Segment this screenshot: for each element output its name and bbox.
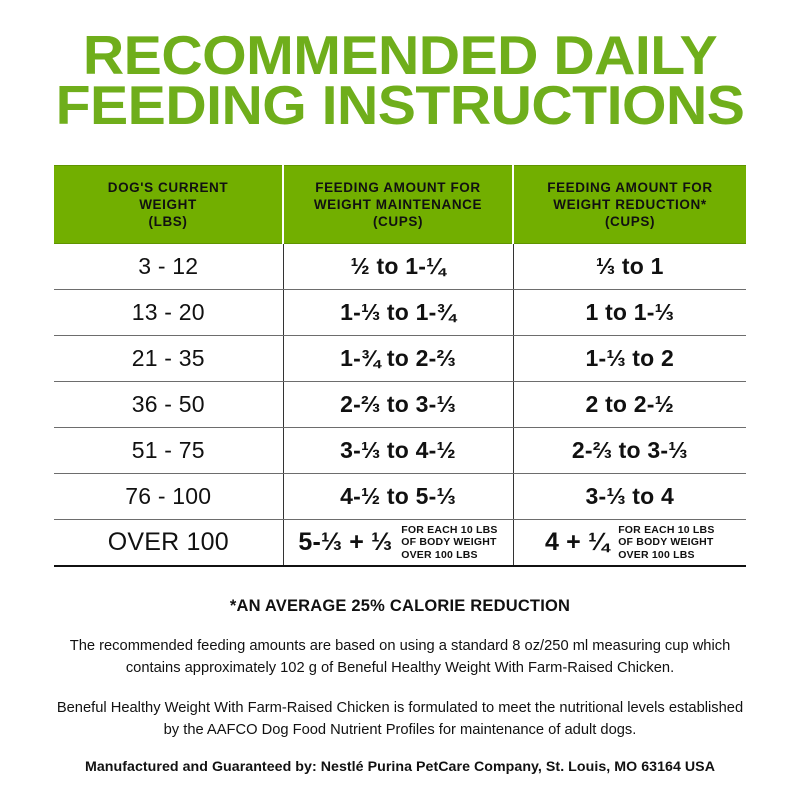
page-title-line-2: FEEDING INSTRUCTIONS	[0, 80, 800, 130]
table-row: 76 - 100 4-½ to 5-⅓ 3-⅓ to 4	[54, 474, 746, 520]
cell-weight: 51 - 75	[54, 428, 283, 474]
column-header-maintenance-line2: WEIGHT MAINTENANCE	[290, 196, 506, 213]
combo-note-line1: FOR EACH 10 LBS	[618, 524, 714, 537]
column-header-reduction: FEEDING AMOUNT FOR WEIGHT REDUCTION* (CU…	[513, 166, 746, 244]
column-header-maintenance: FEEDING AMOUNT FOR WEIGHT MAINTENANCE (C…	[283, 166, 513, 244]
cell-maintenance: 4-½ to 5-⅓	[283, 474, 513, 520]
combo-reduction-note: FOR EACH 10 LBS OF BODY WEIGHT OVER 100 …	[618, 524, 714, 562]
table-row: 3 - 12 ½ to 1-¼ ⅓ to 1	[54, 244, 746, 290]
column-header-maintenance-line3: (CUPS)	[290, 213, 506, 230]
combo-note-line3: OVER 100 LBS	[618, 549, 714, 562]
cell-reduction: 1-⅓ to 2	[513, 336, 746, 382]
cell-weight: 3 - 12	[54, 244, 283, 290]
cell-reduction: 1 to 1-⅓	[513, 290, 746, 336]
table-row: 13 - 20 1-⅓ to 1-¾ 1 to 1-⅓	[54, 290, 746, 336]
cell-maintenance: 1-¾ to 2-⅔	[283, 336, 513, 382]
combo-reduction-value: 4 + ¼	[545, 528, 609, 557]
footnotes: *AN AVERAGE 25% CALORIE REDUCTION The re…	[0, 597, 800, 775]
footnote-calorie-reduction: *AN AVERAGE 25% CALORIE REDUCTION	[40, 597, 760, 616]
cell-reduction: 2 to 2-½	[513, 382, 746, 428]
column-header-reduction-line1: FEEDING AMOUNT FOR	[520, 179, 740, 196]
cell-reduction: ⅓ to 1	[513, 244, 746, 290]
combo-maintenance: 5-⅓ + ⅓ FOR EACH 10 LBS OF BODY WEIGHT O…	[288, 520, 509, 565]
combo-note-line2: OF BODY WEIGHT	[618, 536, 714, 549]
cell-weight-over-100: OVER 100	[54, 520, 283, 566]
cell-reduction-over-100: 4 + ¼ FOR EACH 10 LBS OF BODY WEIGHT OVE…	[513, 520, 746, 566]
combo-maintenance-value: 5-⅓ + ⅓	[298, 528, 392, 557]
cell-weight: 21 - 35	[54, 336, 283, 382]
column-header-maintenance-line1: FEEDING AMOUNT FOR	[290, 179, 506, 196]
table-row: 21 - 35 1-¾ to 2-⅔ 1-⅓ to 2	[54, 336, 746, 382]
page-title: RECOMMENDED DAILY FEEDING INSTRUCTIONS	[0, 0, 800, 130]
combo-reduction: 4 + ¼ FOR EACH 10 LBS OF BODY WEIGHT OVE…	[518, 520, 743, 565]
feeding-instructions-page: RECOMMENDED DAILY FEEDING INSTRUCTIONS D…	[0, 0, 800, 800]
table-body: 3 - 12 ½ to 1-¼ ⅓ to 1 13 - 20 1-⅓ to 1-…	[54, 244, 746, 566]
column-header-weight: DOG'S CURRENT WEIGHT (LBS)	[54, 166, 283, 244]
footnote-manufacturer: Manufactured and Guaranteed by: Nestlé P…	[40, 759, 760, 775]
cell-weight: 13 - 20	[54, 290, 283, 336]
cell-maintenance-over-100: 5-⅓ + ⅓ FOR EACH 10 LBS OF BODY WEIGHT O…	[283, 520, 513, 566]
cell-reduction: 3-⅓ to 4	[513, 474, 746, 520]
feeding-table-container: DOG'S CURRENT WEIGHT (LBS) FEEDING AMOUN…	[54, 165, 746, 567]
column-header-weight-line2: WEIGHT	[60, 196, 276, 213]
cell-maintenance: ½ to 1-¼	[283, 244, 513, 290]
column-header-weight-line1: DOG'S CURRENT	[60, 179, 276, 196]
combo-maintenance-note: FOR EACH 10 LBS OF BODY WEIGHT OVER 100 …	[401, 524, 497, 562]
table-header: DOG'S CURRENT WEIGHT (LBS) FEEDING AMOUN…	[54, 166, 746, 244]
table-row-over-100: OVER 100 5-⅓ + ⅓ FOR EACH 10 LBS OF BODY…	[54, 520, 746, 566]
page-title-line-1: RECOMMENDED DAILY	[0, 30, 800, 80]
combo-note-line1: FOR EACH 10 LBS	[401, 524, 497, 537]
cell-weight: 76 - 100	[54, 474, 283, 520]
cell-reduction: 2-⅔ to 3-⅓	[513, 428, 746, 474]
cell-maintenance: 2-⅔ to 3-⅓	[283, 382, 513, 428]
combo-note-line2: OF BODY WEIGHT	[401, 536, 497, 549]
cell-weight: 36 - 50	[54, 382, 283, 428]
table-header-row: DOG'S CURRENT WEIGHT (LBS) FEEDING AMOUN…	[54, 166, 746, 244]
footnote-aafco-statement: Beneful Healthy Weight With Farm-Raised …	[40, 697, 760, 741]
column-header-weight-line3: (LBS)	[60, 213, 276, 230]
combo-note-line3: OVER 100 LBS	[401, 549, 497, 562]
footnote-measuring-cup: The recommended feeding amounts are base…	[40, 635, 760, 679]
cell-maintenance: 3-⅓ to 4-½	[283, 428, 513, 474]
column-header-reduction-line2: WEIGHT REDUCTION*	[520, 196, 740, 213]
feeding-table: DOG'S CURRENT WEIGHT (LBS) FEEDING AMOUN…	[54, 165, 746, 567]
column-header-reduction-line3: (CUPS)	[520, 213, 740, 230]
table-row: 51 - 75 3-⅓ to 4-½ 2-⅔ to 3-⅓	[54, 428, 746, 474]
cell-maintenance: 1-⅓ to 1-¾	[283, 290, 513, 336]
table-row: 36 - 50 2-⅔ to 3-⅓ 2 to 2-½	[54, 382, 746, 428]
